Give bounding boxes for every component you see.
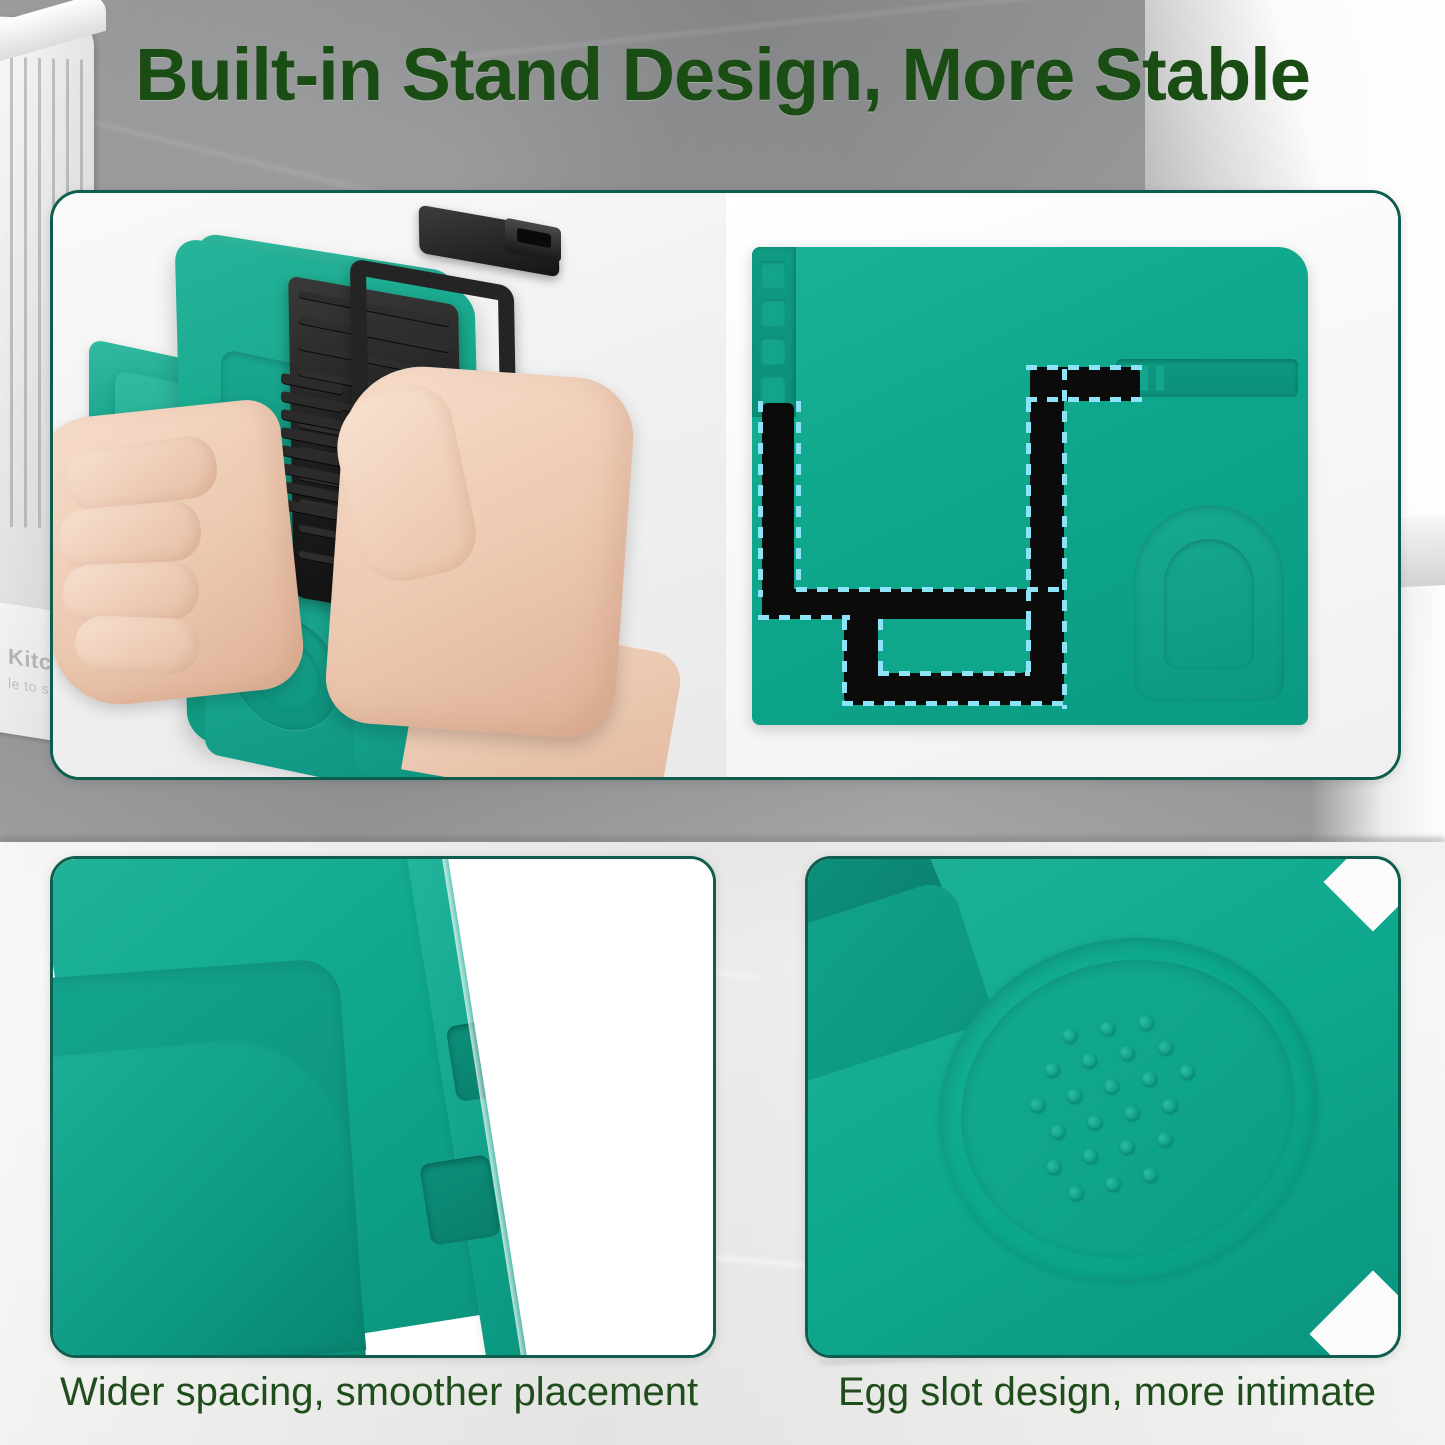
dashed-outline-top-lower <box>1026 397 1142 402</box>
left-hand-finger-4 <box>74 615 200 675</box>
black-stand-teeth <box>281 373 345 535</box>
dashed-outline-top <box>1026 365 1142 370</box>
dashed-outline-seat-top <box>796 587 1064 592</box>
caption-wider-spacing: Wider spacing, smoother placement <box>60 1372 698 1412</box>
dashed-outline-right-outer <box>1062 369 1067 709</box>
wider-spacing-panel <box>50 856 716 1358</box>
channel-top-horizontal <box>1030 367 1140 401</box>
spacing-slot-4 <box>419 1154 501 1246</box>
diagram-top-slot <box>1116 359 1298 397</box>
built-in-stand-panel <box>50 190 1401 780</box>
dashed-outline-left <box>758 401 763 597</box>
dashed-outline-lower-bottom <box>842 701 1064 706</box>
dashed-outline-lower-left <box>842 619 847 705</box>
stand-channel-diagram <box>726 193 1399 777</box>
channel-lower-u-inner <box>878 619 1030 673</box>
channel-left-vertical <box>762 403 794 617</box>
diagram-silicone-mat <box>752 247 1308 725</box>
dashed-outline-left-inner <box>796 401 801 591</box>
spacing-mat-ramp <box>50 1031 366 1358</box>
diagram-side-channel <box>752 247 796 417</box>
channel-right-vertical <box>1030 371 1064 621</box>
dashed-outline-lower-inner-bottom <box>878 671 1030 676</box>
dashed-outline-right-inner <box>1026 401 1031 621</box>
dashed-outline-lower-left-inner <box>878 619 883 675</box>
dashed-outline-lower-right-inner <box>1026 619 1031 675</box>
egg-slot-panel <box>805 856 1401 1358</box>
caption-egg-slot: Egg slot design, more intimate <box>838 1372 1376 1412</box>
dashed-outline-seat-bottom <box>758 615 850 620</box>
diagram-egg-slot <box>1134 505 1284 701</box>
stand-removal-photo <box>53 193 726 777</box>
page-title: Built-in Stand Design, More Stable <box>0 38 1445 112</box>
left-hand-finger-3 <box>62 561 200 624</box>
